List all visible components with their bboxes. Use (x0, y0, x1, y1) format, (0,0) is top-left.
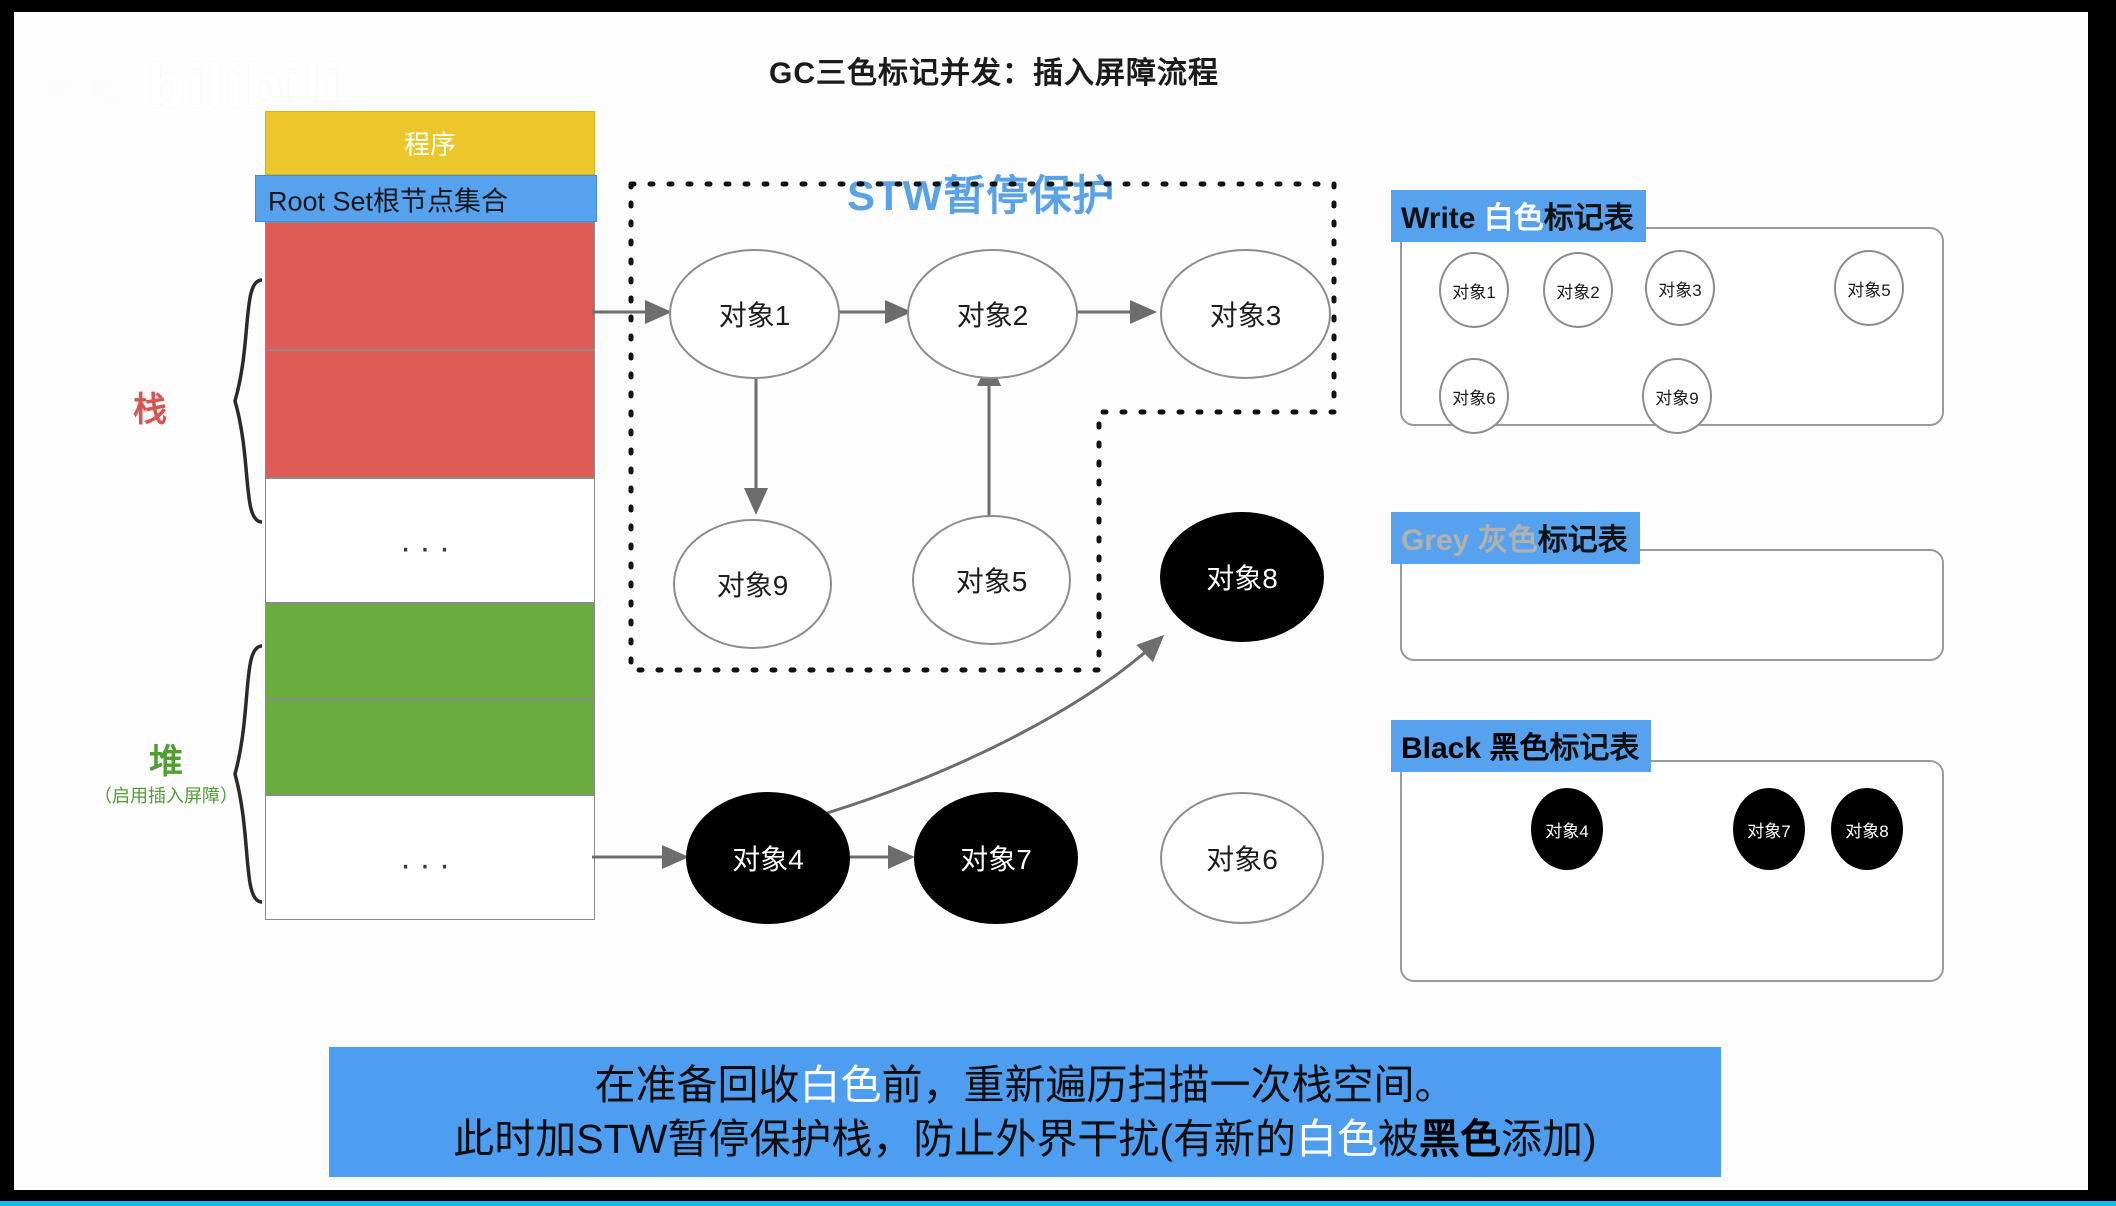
graph-node-obj2-label: 对象2 (957, 294, 1029, 334)
banner-line2-mid: 被 (1378, 1116, 1419, 1162)
graph-node-obj6-label: 对象6 (1206, 838, 1278, 878)
banner-line2-highlight-black: 黑色 (1419, 1116, 1501, 1162)
black-chip-obj4-label: 对象4 (1545, 817, 1588, 842)
grey-table-header-tail: 标记表 (1538, 524, 1628, 557)
screenshot-root: 哔哩 bilibili GC三色标记并发：插入屏障流程 程序 Root Set根… (0, 0, 2116, 1206)
black-chip-obj7-label: 对象7 (1747, 817, 1790, 842)
banner-line2-a: 此时加STW暂停保护栈，防止外界干扰(有新的 (453, 1116, 1296, 1162)
graph-node-obj4-label: 对象4 (732, 838, 804, 878)
graph-node-obj9-label: 对象9 (717, 564, 789, 604)
banner-line-1: 在准备回收白色前，重新遍历扫描一次栈空间。 (595, 1058, 1456, 1112)
white-table-header-word: 白色 (1484, 202, 1544, 235)
white-chip-obj2[interactable]: 对象2 (1543, 252, 1613, 328)
banner-line2-highlight-white: 白色 (1296, 1116, 1378, 1162)
white-chip-obj5-label: 对象5 (1847, 276, 1890, 301)
white-table-header-en: Write (1401, 202, 1484, 235)
graph-node-obj9[interactable]: 对象9 (673, 519, 832, 649)
white-chip-obj3-label: 对象3 (1658, 276, 1701, 301)
white-chip-obj1[interactable]: 对象1 (1439, 252, 1509, 328)
white-chip-obj5[interactable]: 对象5 (1834, 250, 1904, 326)
graph-node-obj1[interactable]: 对象1 (669, 249, 840, 379)
banner-line-2: 此时加STW暂停保护栈，防止外界干扰(有新的白色被黑色添加) (453, 1112, 1596, 1166)
player-progress-bar[interactable] (0, 1201, 2116, 1206)
graph-node-obj5[interactable]: 对象5 (912, 515, 1071, 645)
graph-node-obj2[interactable]: 对象2 (907, 249, 1078, 379)
black-mark-table-header: Black 黑色标记表 (1391, 720, 1651, 772)
grey-table-header-word: 灰色 (1478, 524, 1538, 557)
white-chip-obj9-label: 对象9 (1655, 384, 1698, 409)
white-mark-table: Write 白色标记表 对象1 对象2 对象3 对象5 对象6 对象9 (1391, 190, 1951, 440)
graph-node-obj4[interactable]: 对象4 (686, 792, 850, 924)
stw-label: STW暂停保护 (847, 162, 1115, 223)
banner-line1-a: 在准备回收 (595, 1062, 800, 1108)
stack-label: 栈 (133, 382, 167, 431)
black-chip-obj7[interactable]: 对象7 (1733, 788, 1805, 870)
stack-brace (235, 280, 262, 522)
grey-table-header-en: Grey (1401, 524, 1478, 557)
graph-node-obj5-label: 对象5 (956, 560, 1028, 600)
black-chip-obj8-label: 对象8 (1845, 817, 1888, 842)
heap-sublabel: （启用插入屏障） (46, 782, 286, 808)
grey-mark-table-header: Grey 灰色标记表 (1391, 512, 1640, 564)
graph-node-obj3-label: 对象3 (1210, 294, 1282, 334)
white-chip-obj6[interactable]: 对象6 (1439, 358, 1509, 434)
black-chip-obj4[interactable]: 对象4 (1531, 788, 1603, 870)
black-table-header-word: 黑色 (1489, 732, 1549, 765)
white-mark-table-header: Write 白色标记表 (1391, 190, 1646, 242)
black-chip-obj8[interactable]: 对象8 (1831, 788, 1903, 870)
graph-node-obj7[interactable]: 对象7 (914, 792, 1078, 924)
white-table-header-tail: 标记表 (1544, 202, 1634, 235)
bottom-banner: 在准备回收白色前，重新遍历扫描一次栈空间。 此时加STW暂停保护栈，防止外界干扰… (329, 1047, 1721, 1177)
grey-mark-table-box (1400, 549, 1944, 661)
slide-canvas: 哔哩 bilibili GC三色标记并发：插入屏障流程 程序 Root Set根… (14, 12, 2088, 1190)
graph-node-obj1-label: 对象1 (719, 294, 791, 334)
white-chip-obj6-label: 对象6 (1452, 384, 1495, 409)
heap-brace (235, 646, 262, 902)
black-table-header-en: Black (1401, 732, 1489, 765)
graph-node-obj3[interactable]: 对象3 (1160, 249, 1331, 379)
white-chip-obj9[interactable]: 对象9 (1642, 358, 1712, 434)
graph-node-obj8[interactable]: 对象8 (1160, 512, 1324, 642)
grey-mark-table: Grey 灰色标记表 (1391, 512, 1951, 682)
banner-line1-b: 前，重新遍历扫描一次栈空间。 (882, 1062, 1456, 1108)
graph-node-obj7-label: 对象7 (960, 838, 1032, 878)
black-mark-table: Black 黑色标记表 对象4 对象7 对象8 (1391, 720, 1951, 1000)
black-table-header-tail: 标记表 (1549, 732, 1639, 765)
white-chip-obj3[interactable]: 对象3 (1645, 250, 1715, 326)
white-chip-obj1-label: 对象1 (1452, 278, 1495, 303)
heap-label: 堆 (126, 734, 206, 783)
banner-line2-b: 添加) (1501, 1116, 1597, 1162)
banner-line1-highlight: 白色 (800, 1062, 882, 1108)
graph-node-obj8-label: 对象8 (1206, 557, 1278, 597)
white-chip-obj2-label: 对象2 (1556, 278, 1599, 303)
graph-node-obj6[interactable]: 对象6 (1160, 792, 1324, 924)
